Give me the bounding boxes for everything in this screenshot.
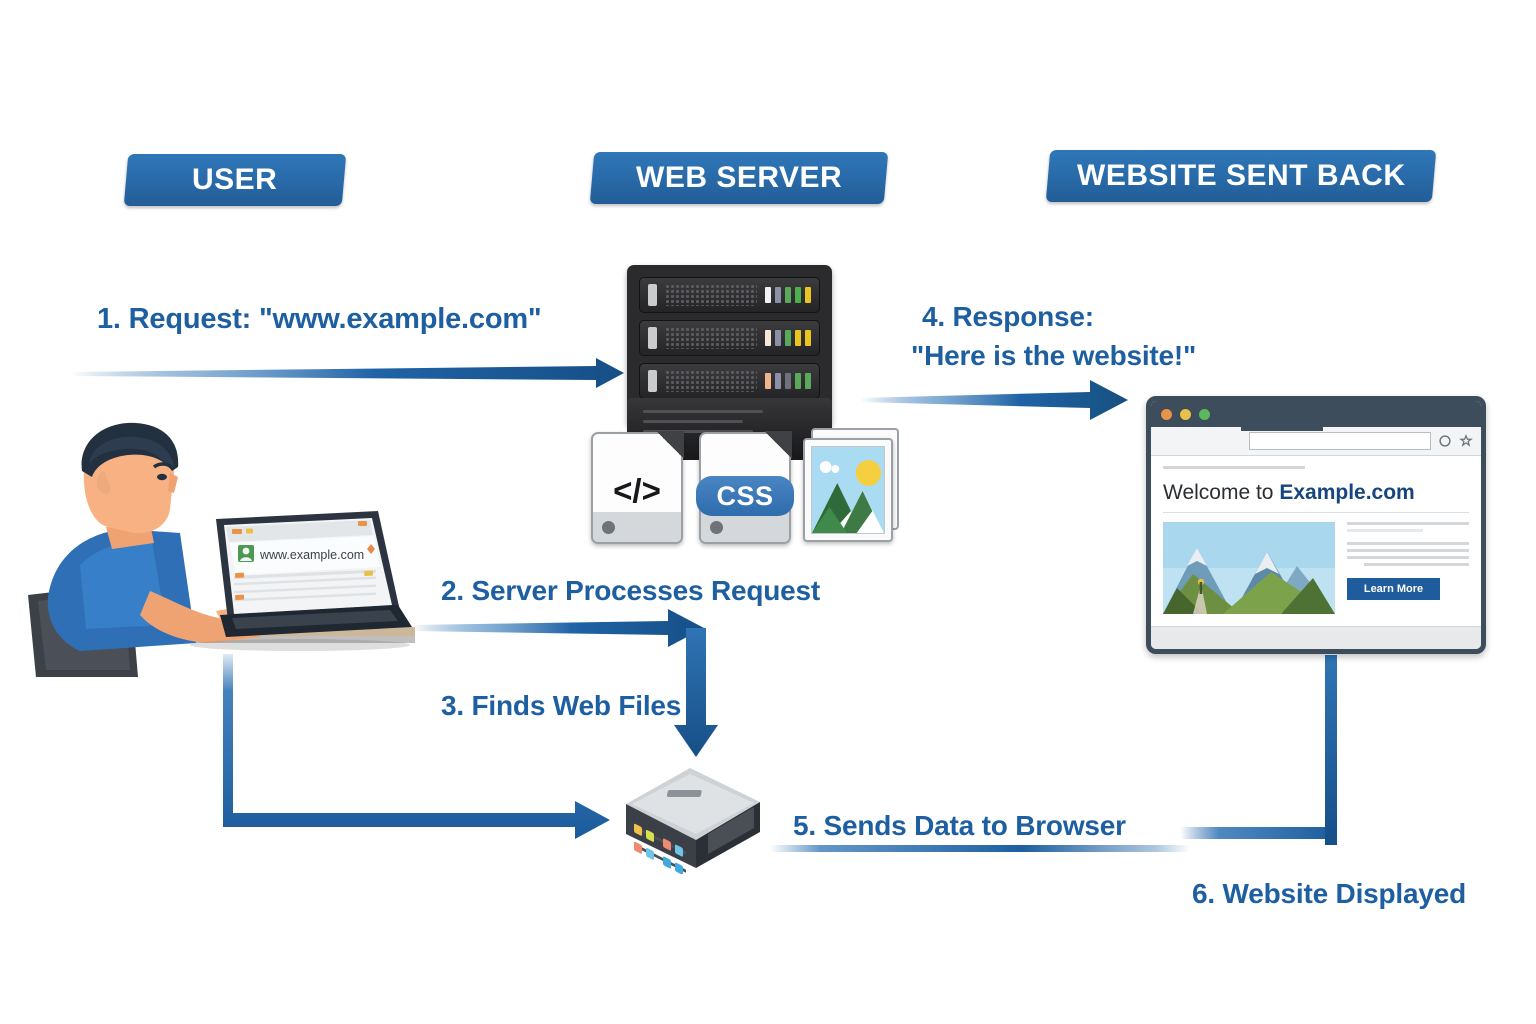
arrow-response bbox=[860, 380, 1128, 420]
maximize-dot-icon[interactable] bbox=[1199, 409, 1210, 420]
page-title-prefix: Welcome to bbox=[1163, 481, 1279, 504]
browser-window: Welcome to Example.com bbox=[1146, 396, 1486, 654]
rack-leds-1 bbox=[765, 287, 811, 303]
arrow-request bbox=[70, 358, 624, 388]
rack-unit-1 bbox=[639, 277, 820, 313]
step-label-3: 3. Finds Web Files bbox=[441, 690, 681, 722]
laptop: www.example.com bbox=[216, 511, 412, 637]
title-divider bbox=[1163, 512, 1469, 513]
page-title-brand: Example.com bbox=[1279, 481, 1414, 504]
browser-toolbar bbox=[1151, 427, 1481, 456]
page-title: Welcome to Example.com bbox=[1163, 481, 1469, 505]
banner-user: USER bbox=[124, 154, 347, 206]
step-label-1: 1. Request: "www.example.com" bbox=[97, 303, 541, 336]
rack-unit-3 bbox=[639, 363, 820, 399]
close-dot-icon[interactable] bbox=[1161, 409, 1172, 420]
sun-icon bbox=[856, 460, 881, 486]
learn-more-button[interactable]: Learn More bbox=[1347, 578, 1440, 600]
rack-leds-2 bbox=[765, 330, 811, 346]
rack-handle bbox=[648, 327, 657, 349]
rack-vents bbox=[665, 284, 757, 306]
banner-user-label: USER bbox=[192, 163, 277, 197]
css-file-label: CSS bbox=[696, 476, 794, 516]
cloud-icon bbox=[820, 461, 832, 473]
diagram-canvas: USER WEB SERVER WEBSITE SENT BACK 1. Req… bbox=[0, 0, 1536, 1024]
banner-web-server-label: WEB SERVER bbox=[636, 161, 842, 195]
step-label-4-line2: "Here is the website!" bbox=[911, 340, 1196, 372]
browser-footer bbox=[1151, 626, 1481, 649]
browser-page-content: Welcome to Example.com bbox=[1151, 456, 1481, 614]
minimize-dot-icon[interactable] bbox=[1180, 409, 1191, 420]
reload-icon[interactable] bbox=[1438, 434, 1452, 448]
person-eye bbox=[157, 474, 167, 480]
step-label-2: 2. Server Processes Request bbox=[441, 575, 820, 607]
browser-tab[interactable] bbox=[1241, 427, 1323, 431]
rack-handle bbox=[648, 370, 657, 392]
hero-image bbox=[1163, 522, 1335, 614]
step-label-6: 6. Website Displayed bbox=[1192, 878, 1466, 910]
banner-web-server: WEB SERVER bbox=[590, 152, 889, 204]
storage-server-box bbox=[612, 762, 772, 874]
bookmark-star-icon[interactable] bbox=[1459, 434, 1473, 448]
banner-website-sent-back: WEBSITE SENT BACK bbox=[1046, 150, 1437, 202]
html-file-icon: </> bbox=[591, 432, 683, 544]
rack-unit-2 bbox=[639, 320, 820, 356]
step5-underline bbox=[770, 845, 1190, 852]
image-thumbnail bbox=[812, 447, 884, 533]
storage-slot bbox=[667, 790, 702, 797]
arrow-server-processes bbox=[412, 609, 704, 647]
browser-titlebar bbox=[1151, 401, 1481, 427]
rack-vents bbox=[665, 327, 757, 349]
step-label-4-line1: 4. Response: bbox=[922, 301, 1094, 333]
laptop-url-text: www.example.com bbox=[259, 548, 364, 562]
arrow-storage-to-browser bbox=[1180, 655, 1337, 845]
page-copy-column: Learn More bbox=[1347, 522, 1469, 614]
image-file-icon bbox=[803, 428, 899, 540]
rack-vents bbox=[665, 370, 757, 392]
page-breadcrumb-line bbox=[1163, 466, 1305, 469]
address-bar[interactable] bbox=[1249, 432, 1431, 450]
rack-handle bbox=[648, 284, 657, 306]
css-file-icon: CSS bbox=[699, 432, 791, 544]
user-avatar-icon bbox=[238, 545, 254, 562]
banner-website-sent-back-label: WEBSITE SENT BACK bbox=[1077, 159, 1406, 193]
user-illustration: www.example.com bbox=[20, 415, 420, 680]
rack-leds-3 bbox=[765, 373, 811, 389]
arrow-user-to-storage bbox=[223, 654, 610, 839]
step-label-5: 5. Sends Data to Browser bbox=[793, 810, 1126, 842]
html-file-label: </> bbox=[593, 472, 681, 510]
